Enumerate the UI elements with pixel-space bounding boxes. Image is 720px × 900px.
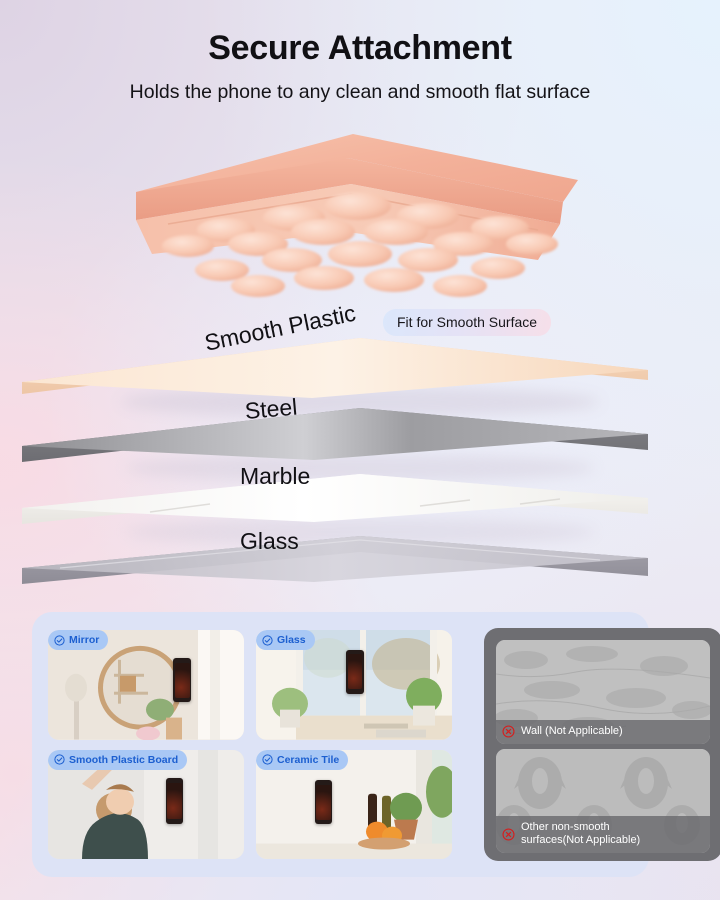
unsupported-label-other-surfaces: Other non-smooth surfaces(Not Applicable… [496,816,710,853]
page-title: Secure Attachment [0,30,720,67]
fit-surface-badge: Fit for Smooth Surface [383,309,551,336]
unsupported-item-other-surfaces: Other non-smooth surfaces(Not Applicable… [496,749,710,853]
surface-gallery-panel: Mirror [32,612,649,877]
gallery-tag-ceramic-tile: Ceramic Tile [256,750,348,770]
gallery-tag-mirror: Mirror [48,630,108,650]
unsupported-label-wall: Wall (Not Applicable) [496,720,710,744]
infographic-canvas: Secure Attachment Holds the phone to any… [0,0,720,900]
unsupported-label-line2: surfaces(Not Applicable) [521,834,640,846]
gallery-tag-glass: Glass [256,630,315,650]
check-circle-icon [262,635,273,646]
gallery-item-glass[interactable]: Glass [256,630,452,740]
gallery-tag-label: Mirror [69,634,99,646]
gallery-tag-label: Ceramic Tile [277,754,339,766]
check-circle-icon [54,754,65,765]
check-circle-icon [262,754,273,765]
material-stack-diagram [0,300,720,600]
unsupported-surfaces-panel: Wall (Not Applicable) [484,628,720,861]
gallery-item-mirror[interactable]: Mirror [48,630,244,740]
supported-surfaces-grid: Mirror [48,630,452,859]
unsupported-label-text: Other non-smooth surfaces(Not Applicable… [521,821,640,847]
x-circle-icon [502,828,515,841]
gallery-item-ceramic-tile[interactable]: Ceramic Tile [256,750,452,860]
gallery-tag-label: Glass [277,634,306,646]
gallery-item-smooth-plastic-board[interactable]: Smooth Plastic Board [48,750,244,860]
phone-mockup [173,658,191,702]
page-subtitle: Holds the phone to any clean and smooth … [0,81,720,104]
phone-mockup [346,650,364,694]
gallery-tag-label: Smooth Plastic Board [69,754,178,766]
layer-label-steel: Steel [244,393,299,424]
layer-label-glass: Glass [240,528,299,555]
x-circle-icon [502,725,515,738]
unsupported-label-text: Wall (Not Applicable) [521,725,623,738]
layer-label-marble: Marble [240,463,310,490]
unsupported-item-wall: Wall (Not Applicable) [496,640,710,744]
gallery-tag-smooth-plastic-board: Smooth Plastic Board [48,750,187,770]
phone-mockup [166,778,184,824]
suction-cup-mount-image [108,128,608,308]
header-block: Secure Attachment Holds the phone to any… [0,30,720,105]
unsupported-label-line1: Other non-smooth [521,821,610,833]
check-circle-icon [54,635,65,646]
phone-mockup [315,780,333,824]
